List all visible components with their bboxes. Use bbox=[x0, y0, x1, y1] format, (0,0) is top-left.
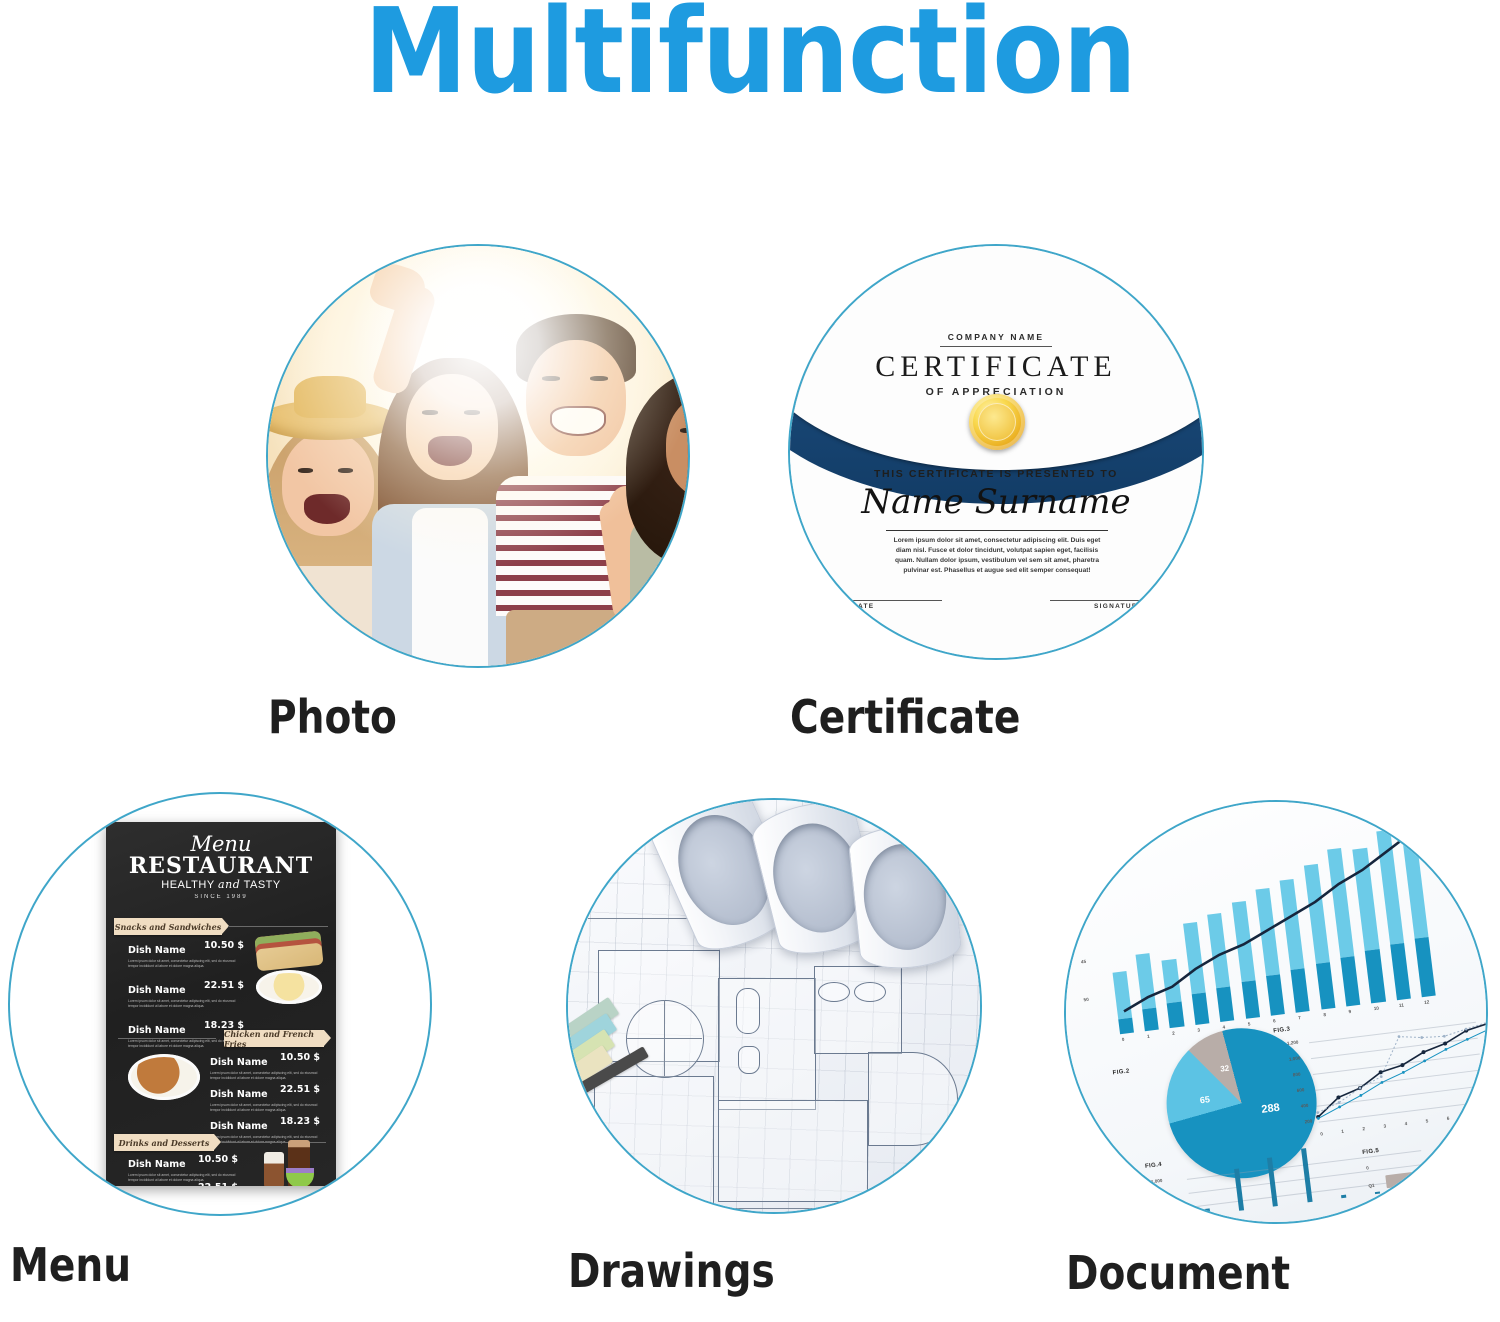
menu-tagline-1: HEALTHY bbox=[161, 879, 214, 891]
chart-fig5-data-label: 513 bbox=[1417, 1172, 1428, 1179]
menu-item: Dish Name 10.50 $ Lorem ipsum dolor sit … bbox=[128, 940, 244, 969]
menu-food-icecream bbox=[286, 1168, 314, 1186]
menu-item: Dish Name 10.50 $ Lorem ipsum dolor sit … bbox=[128, 1154, 238, 1183]
menu-rule bbox=[228, 926, 328, 927]
chart-fig4-bar bbox=[1267, 1158, 1278, 1207]
document-circle-icon[interactable]: 0123456789101112 FIG.2 30 45 50 288 65 3… bbox=[1066, 802, 1486, 1222]
menu-item-name: Dish Name bbox=[128, 1159, 186, 1170]
chart-fig2-ytick: 45 bbox=[1081, 959, 1087, 965]
chart-fig4-bar bbox=[1341, 1194, 1346, 1198]
menu-item: Dish Name 10.50 $ Lorem ipsum dolor sit … bbox=[210, 1052, 320, 1081]
menu-item-name: Dish Name bbox=[128, 1025, 186, 1036]
menu-item: Dish Name 22.51 $ Lorem ipsum dolor sit … bbox=[128, 1182, 238, 1186]
menu-tagline: HEALTHY and TASTY bbox=[106, 878, 336, 891]
menu-item-name: Dish Name bbox=[128, 985, 186, 996]
blueprint-stair-spiral bbox=[626, 1000, 704, 1078]
blueprint-roll bbox=[847, 821, 963, 973]
chart-fig2-xtick: 12 bbox=[1424, 999, 1430, 1005]
chart-fig3-ytick: 400 bbox=[1300, 1103, 1308, 1109]
menu-item-name: Dish Name bbox=[210, 1057, 268, 1068]
chart-fig3-ytick: 600 bbox=[1296, 1087, 1304, 1093]
certificate-date-caption: DATE bbox=[852, 603, 874, 610]
chart-fig5-ytick: 500 bbox=[1447, 1137, 1455, 1143]
menu-food-sandwich bbox=[254, 931, 323, 972]
menu-tagline-2: TASTY bbox=[244, 879, 281, 891]
chart-fig3-series bbox=[1309, 1023, 1486, 1117]
menu-item-price: 22.51 $ bbox=[280, 1084, 320, 1095]
menu-section-ribbon: Snacks and Sandwiches bbox=[114, 918, 222, 935]
certificate-seal-icon bbox=[969, 394, 1025, 450]
menu-item-price: 22.51 $ bbox=[198, 1182, 238, 1186]
menu-item-price: 10.50 $ bbox=[198, 1154, 238, 1165]
menu-item-name: Dish Name bbox=[128, 945, 186, 956]
menu-circle-icon[interactable]: Menu RESTAURANT HEALTHY and TASTY SINCE … bbox=[10, 794, 430, 1214]
chart-fig4-bar bbox=[1301, 1148, 1313, 1202]
menu-header: Menu RESTAURANT HEALTHY and TASTY SINCE … bbox=[106, 832, 336, 900]
chart-fig3-xtick: 6 bbox=[1447, 1116, 1450, 1121]
chart-pie-label: 32 bbox=[1220, 1064, 1230, 1074]
certificate-presented-to: THIS CERTIFICATE IS PRESENTED TO bbox=[790, 468, 1202, 480]
certificate-signature-line bbox=[1050, 600, 1158, 601]
chart-fig3-ytick: 1.200 bbox=[1287, 1040, 1299, 1046]
blueprint-fixture-tub bbox=[736, 988, 760, 1034]
blueprint-fixture-sink bbox=[818, 982, 850, 1002]
chart-fig4-ytick: 600 bbox=[1162, 1205, 1170, 1211]
chart-fig4-ytick: 1.000 bbox=[1151, 1178, 1163, 1184]
blueprint-room bbox=[814, 966, 902, 1054]
menu-poster: Menu RESTAURANT HEALTHY and TASTY SINCE … bbox=[106, 822, 336, 1186]
certificate-circle-icon[interactable]: COMPANY NAME CERTIFICATE OF APPRECIATION… bbox=[790, 246, 1202, 658]
menu-tagline-and: and bbox=[218, 878, 240, 891]
chart-fig5-xtick: Q1 bbox=[1368, 1183, 1375, 1189]
menu-food-fries bbox=[256, 970, 322, 1004]
menu-item-price: 18.23 $ bbox=[280, 1116, 320, 1127]
blueprint-room bbox=[718, 1100, 868, 1202]
chart-fig2-xtick: 7 bbox=[1298, 1015, 1301, 1020]
menu-item: Dish Name 22.51 $ Lorem ipsum dolor sit … bbox=[128, 980, 244, 1009]
blueprint-fixture-wc bbox=[738, 1046, 760, 1074]
chart-fig5-title: FIG.5 bbox=[1362, 1148, 1380, 1156]
photo-person-4 bbox=[620, 336, 688, 666]
chart-fig2-xtick: 9 bbox=[1348, 1009, 1351, 1014]
chart-fig3-ytick: 200 bbox=[1304, 1118, 1312, 1124]
chart-fig4-bar bbox=[1204, 1208, 1210, 1215]
chart-fig3-ytick: 800 bbox=[1293, 1072, 1301, 1078]
menu-item-price: 10.50 $ bbox=[204, 940, 244, 951]
menu-item-desc: Lorem ipsum dolor sit amet, consectetur … bbox=[210, 1103, 320, 1113]
menu-item-name: Dish Name bbox=[210, 1121, 268, 1132]
menu-section-ribbon: Chicken and French Fries bbox=[224, 1030, 324, 1047]
chart-fig4-bar bbox=[1234, 1168, 1244, 1210]
menu-since: SINCE 1989 bbox=[106, 894, 336, 900]
menu-section-ribbon: Drinks and Desserts bbox=[114, 1134, 214, 1151]
chart-fig2-xtick: 8 bbox=[1323, 1012, 1326, 1017]
menu-food-chicken bbox=[128, 1054, 200, 1100]
chart-fig4-title: FIG.4 bbox=[1145, 1162, 1163, 1170]
chart-fig4-ytick: 800 bbox=[1156, 1192, 1164, 1198]
chart-fig3-series bbox=[1310, 1029, 1486, 1118]
photo-circle-icon[interactable] bbox=[268, 246, 688, 666]
chart-fig2-xtick: 4 bbox=[1222, 1024, 1225, 1029]
blueprint-room bbox=[868, 1052, 958, 1146]
chart-fig2-xtick: 6 bbox=[1273, 1018, 1276, 1023]
page-title: Multifunction bbox=[90, 0, 1410, 120]
certificate-company-rule bbox=[940, 346, 1052, 347]
chart-fig2-xtick: 5 bbox=[1248, 1021, 1251, 1026]
menu-item-price: 22.51 $ bbox=[204, 980, 244, 991]
chart-fig2-ytick: 30 bbox=[1078, 919, 1084, 925]
menu-item-desc: Lorem ipsum dolor sit amet, consectetur … bbox=[128, 959, 244, 969]
certificate-signature-caption: SIGNATURE bbox=[1094, 603, 1144, 610]
chart-fig2-xtick: 1 bbox=[1147, 1034, 1150, 1039]
certificate-company: COMPANY NAME bbox=[790, 332, 1202, 342]
blueprint-room bbox=[718, 978, 816, 1110]
chart-fig2-xtick: 0 bbox=[1122, 1037, 1125, 1042]
menu-food-coffee bbox=[264, 1152, 284, 1186]
drawings-circle-icon[interactable] bbox=[568, 800, 980, 1212]
chart-fig3-xtick: 7 bbox=[1468, 1113, 1471, 1118]
blueprint-fixture-sink bbox=[854, 982, 886, 1002]
chart-fig2-xtick: 2 bbox=[1172, 1031, 1175, 1036]
certificate-body-text: Lorem ipsum dolor sit amet, consectetur … bbox=[890, 536, 1104, 576]
chart-fig2-ytick: 50 bbox=[1083, 997, 1089, 1003]
menu-rule bbox=[118, 1038, 216, 1039]
chart-fig2-xtick: 11 bbox=[1399, 1002, 1404, 1008]
menu-item: Dish Name 22.51 $ Lorem ipsum dolor sit … bbox=[210, 1084, 320, 1113]
blueprint-dim-line bbox=[588, 1208, 948, 1209]
chart-fig2-xtick: 3 bbox=[1197, 1028, 1200, 1033]
menu-rule bbox=[222, 1142, 326, 1143]
blueprint-dim-line bbox=[664, 1000, 665, 1076]
chart-fig3-ytick: 1.000 bbox=[1289, 1055, 1301, 1061]
menu-item-name: Dish Name bbox=[210, 1089, 268, 1100]
chart-fig2-xtick: 10 bbox=[1373, 1006, 1379, 1012]
menu-heading: RESTAURANT bbox=[106, 853, 336, 879]
blueprint-room bbox=[594, 1076, 714, 1206]
certificate-date-line bbox=[834, 600, 942, 601]
menu-item-desc: Lorem ipsum dolor sit amet, consectetur … bbox=[210, 1071, 320, 1081]
chart-fig5-ytick: 0 bbox=[1366, 1165, 1369, 1170]
chart-pie-label: 65 bbox=[1199, 1094, 1210, 1105]
certificate-name-rule bbox=[886, 530, 1108, 531]
certificate-recipient: Name Surname bbox=[790, 482, 1202, 522]
chart-pie-label: 288 bbox=[1261, 1102, 1281, 1116]
menu-item-price: 10.50 $ bbox=[280, 1052, 320, 1063]
menu-item-desc: Lorem ipsum dolor sit amet, consectetur … bbox=[128, 999, 244, 1009]
certificate-title: CERTIFICATE bbox=[790, 350, 1202, 384]
